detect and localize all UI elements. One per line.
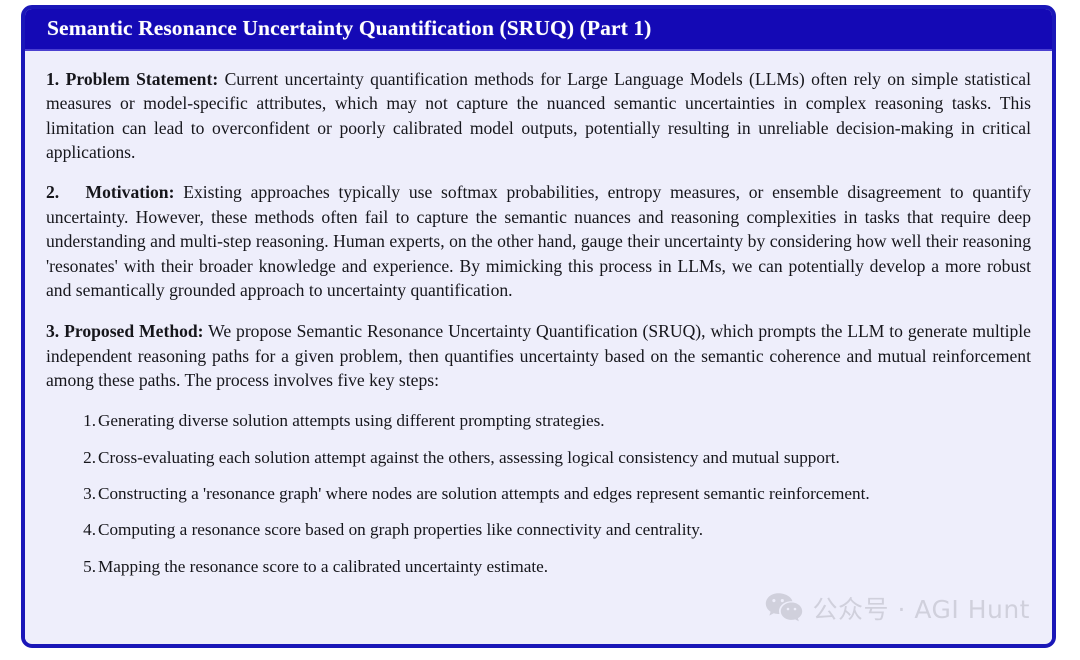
list-item: Cross-evaluating each solution attempt a… [46, 446, 1031, 469]
list-item: Generating diverse solution attempts usi… [46, 409, 1031, 432]
section-heading-1: Problem Statement: [66, 69, 219, 89]
list-item: Constructing a 'resonance graph' where n… [46, 482, 1031, 505]
page-title: Semantic Resonance Uncertainty Quantific… [47, 18, 651, 40]
section-number-3: 3. [46, 321, 59, 341]
section-heading-3: Proposed Method: [64, 321, 203, 341]
content-card: Semantic Resonance Uncertainty Quantific… [21, 5, 1056, 648]
section-problem-statement: 1. Problem Statement: Current uncertaint… [46, 67, 1031, 164]
section-motivation: 2. Motivation: Existing approaches typic… [46, 180, 1031, 302]
section-number-1: 1. [46, 69, 59, 89]
card-header: Semantic Resonance Uncertainty Quantific… [25, 9, 1052, 51]
section-number-2: 2. [46, 182, 59, 202]
list-item: Computing a resonance score based on gra… [46, 518, 1031, 541]
list-item: Mapping the resonance score to a calibra… [46, 555, 1031, 578]
method-steps-list: Generating diverse solution attempts usi… [46, 409, 1031, 578]
slide-canvas: Semantic Resonance Uncertainty Quantific… [0, 0, 1080, 660]
section-body-2: Existing approaches typically use softma… [46, 182, 1031, 299]
card-body: 1. Problem Statement: Current uncertaint… [25, 51, 1052, 642]
section-proposed-method: 3. Proposed Method: We propose Semantic … [46, 319, 1031, 392]
section-heading-2: Motivation: [86, 182, 175, 202]
